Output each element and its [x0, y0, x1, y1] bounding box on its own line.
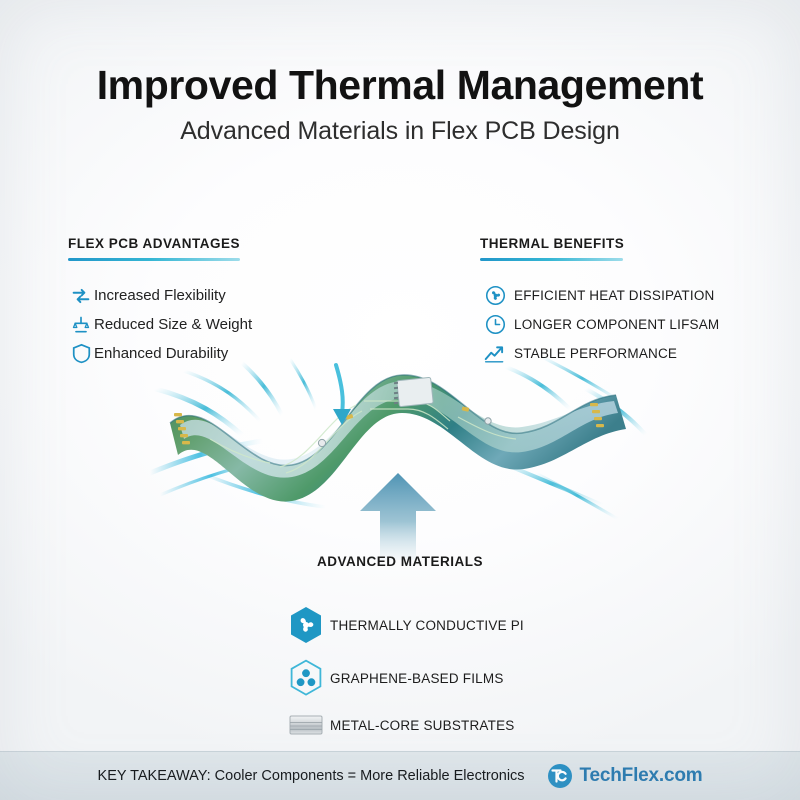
material-item: GRAPHENE-BASED FILMS [286, 660, 504, 696]
heading-underline [68, 258, 240, 261]
list-item: Reduced Size & Weight [68, 310, 252, 339]
list-item: EFFICIENT HEAT DISSIPATION [480, 281, 719, 310]
exchange-arrows-icon [68, 286, 94, 306]
list-item-label: Reduced Size & Weight [94, 316, 252, 333]
key-takeaway-text: KEY TAKEAWAY: Cooler Components = More R… [98, 768, 525, 784]
techflex-logo-icon [547, 763, 573, 789]
brand-name: TechFlex.com [580, 765, 703, 787]
clock-icon [480, 315, 510, 335]
material-item: METAL-CORE SUBSTRATES [286, 707, 514, 743]
material-label: THERMALLY CONDUCTIVE PI [330, 618, 524, 633]
fan-circle-icon [480, 286, 510, 306]
list-item-label: EFFICIENT HEAT DISSIPATION [514, 288, 714, 303]
page-title: Improved Thermal Management [0, 62, 800, 109]
pcb-chip [394, 377, 433, 406]
shield-icon [68, 344, 94, 364]
list-item-label: Increased Flexibility [94, 287, 226, 304]
compress-size-icon [68, 315, 94, 335]
brand-logo[interactable]: TechFlex.com [547, 763, 703, 789]
section-heading-advantages: FLEX PCB ADVANTAGES [68, 236, 252, 251]
metal-layers-icon [286, 707, 326, 743]
list-item: LONGER COMPONENT LIFSAM [480, 310, 719, 339]
hexagon-molecule-outline-icon [286, 660, 326, 696]
heading-underline [480, 258, 623, 261]
list-item: Increased Flexibility [68, 281, 252, 310]
thermal-benefits-section: THERMAL BENEFITS EFFICIENT HEAT DISSIPAT… [480, 236, 719, 368]
section-heading-materials: ADVANCED MATERIALS [0, 554, 800, 569]
material-label: GRAPHENE-BASED FILMS [330, 671, 504, 686]
infographic-canvas: Improved Thermal Management Advanced Mat… [0, 0, 800, 800]
material-label: METAL-CORE SUBSTRATES [330, 718, 514, 733]
list-item-label: LONGER COMPONENT LIFSAM [514, 317, 719, 332]
hexagon-fan-filled-icon [286, 607, 326, 643]
material-item: THERMALLY CONDUCTIVE PI [286, 607, 524, 643]
cooling-up-arrow [360, 473, 436, 560]
flex-pcb-advantages-section: FLEX PCB ADVANTAGES Increased Flexibilit… [68, 236, 252, 368]
section-heading-benefits: THERMAL BENEFITS [480, 236, 719, 251]
page-subtitle: Advanced Materials in Flex PCB Design [0, 117, 800, 146]
footer-bar: KEY TAKEAWAY: Cooler Components = More R… [0, 751, 800, 800]
flex-pcb-wave-diagram [150, 355, 650, 560]
